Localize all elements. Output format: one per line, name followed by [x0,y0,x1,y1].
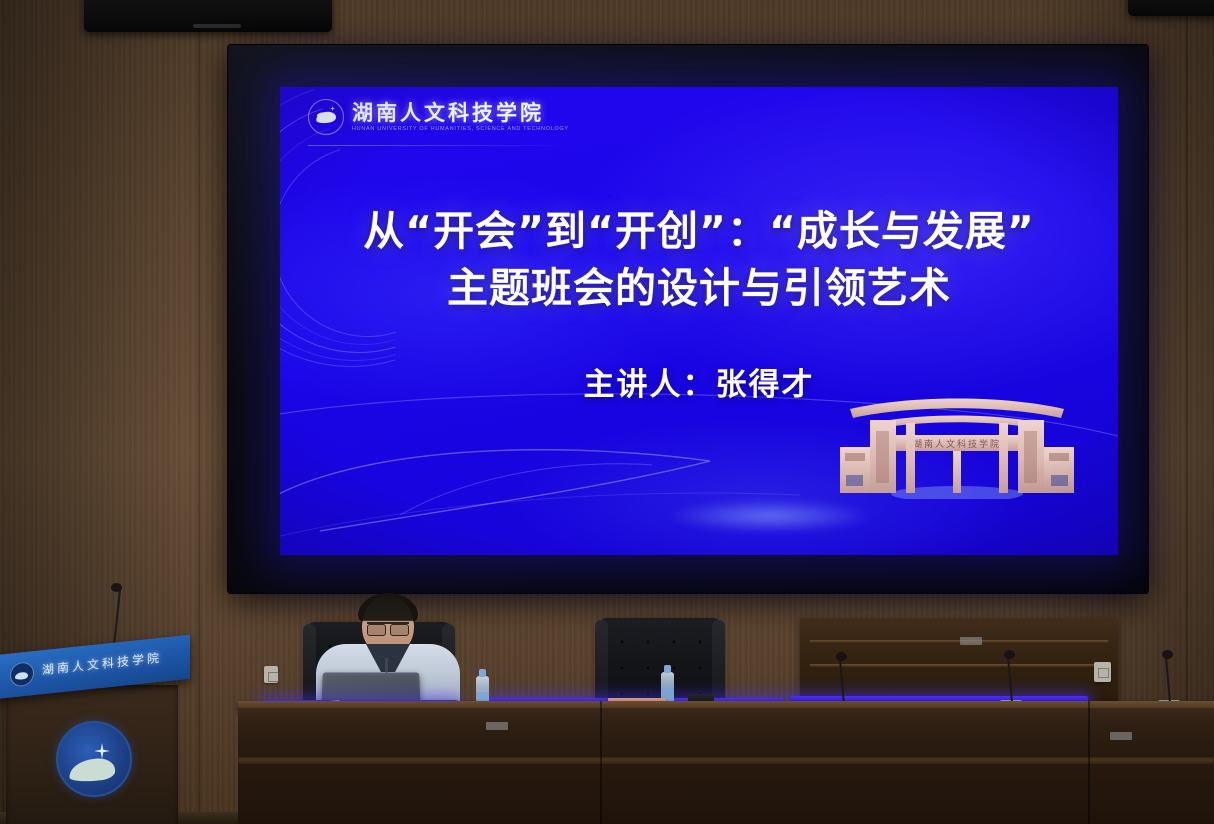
projection-screen-frame: 湖南人文科技学院 HUNAN UNIVERSITY OF HUMANITIES,… [228,45,1148,593]
campus-gate-illustration: 湖南人文科技学院 [830,393,1084,499]
table-molding-groove [238,757,1214,764]
wall-outlet-plate [1094,662,1111,682]
university-seal-icon [56,721,132,797]
ceiling-speaker-unit [1128,0,1214,16]
ceiling-projector-unit [84,0,332,32]
slide-glow-accent [665,499,875,533]
slide-logo-name-en: HUNAN UNIVERSITY OF HUMANITIES, SCIENCE … [352,126,569,132]
table-seam [600,701,602,824]
lecture-hall-photo: 湖南人文科技学院 HUNAN UNIVERSITY OF HUMANITIES,… [0,0,1214,824]
vent-icon [193,24,241,28]
projection-screen-display[interactable]: 湖南人文科技学院 HUNAN UNIVERSITY OF HUMANITIES,… [280,87,1118,555]
ledge-rail [810,640,1108,643]
table-seam [1088,701,1090,824]
table-label-tag [486,722,508,730]
back-ledge [800,618,1118,706]
table-label-tag [1110,732,1132,740]
slide-university-logo: 湖南人文科技学院 HUNAN UNIVERSITY OF HUMANITIES,… [308,99,569,135]
swan-circle-emblem-icon [308,99,344,135]
slide-title-line2: 主题班会的设计与引领艺术 [280,260,1118,317]
podium-logo-icon [10,661,34,688]
wall-outlet-plate [264,666,278,683]
shelf-label-tag [960,637,982,645]
lectern-podium: 湖南人文科技学院 [0,645,200,824]
slide-title: 从“开会”到“开创”：“成长与发展” 主题班会的设计与引领艺术 [280,203,1118,316]
slide-logo-divider [308,145,570,146]
eyeglasses-icon [367,622,409,634]
podium-body [6,685,178,824]
gate-inscription: 湖南人文科技学院 [913,438,1001,450]
podium-banner-text: 湖南人文科技学院 [42,649,162,679]
ledge-rail [810,664,1108,667]
conference-table [238,708,1214,824]
slide-title-line1: 从“开会”到“开创”：“成长与发展” [363,207,1035,255]
slide-logo-name-cn: 湖南人文科技学院 [352,102,569,123]
microphone-head-icon [111,583,122,592]
